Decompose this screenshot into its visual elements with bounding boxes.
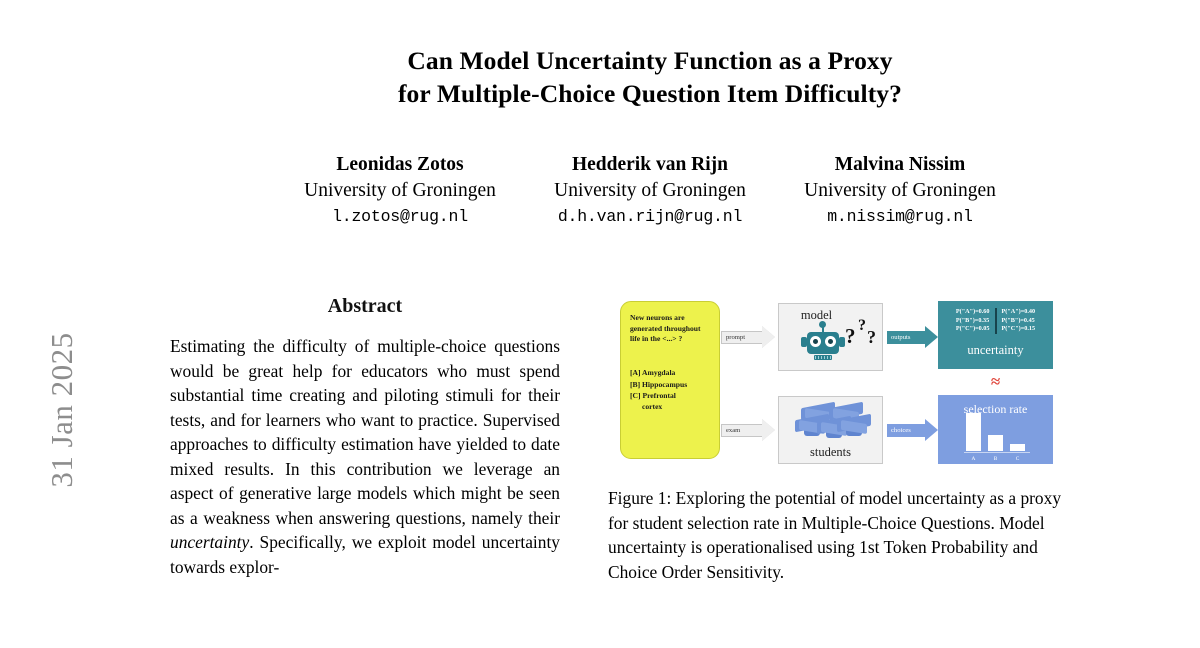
bar-column-a — [966, 413, 981, 451]
question-option-b: [B] Hippocampus — [630, 379, 712, 391]
question-option-c-line1: [C] Prefrontal — [630, 391, 676, 400]
robot-pupil-left — [813, 339, 818, 344]
students-panel: students — [778, 396, 883, 464]
arrow-outputs-head-icon — [925, 326, 938, 348]
model-panel-label: model — [765, 308, 868, 323]
uncertainty-prob-2-a: P("A")=0.40 — [1002, 308, 1036, 317]
model-panel: model — [778, 303, 883, 371]
arxiv-date-stamp: 31 Jan 2025 — [0, 0, 100, 648]
chart-tick-labels: A B C — [966, 456, 1028, 462]
chart-tick-c: C — [1010, 456, 1025, 462]
author-email-2[interactable]: d.h.van.rijn@rug.nl — [525, 204, 775, 230]
abstract-body: Estimating the difficulty of multiple-ch… — [170, 334, 560, 579]
author-affiliation-2: University of Groningen — [525, 177, 775, 204]
question-option-c: [C] Prefrontalcortex — [630, 391, 712, 412]
question-stem: New neurons are generated throughout lif… — [630, 313, 712, 345]
bar-a — [966, 413, 981, 451]
right-column: New neurons are generated throughout lif… — [608, 294, 1063, 584]
figure-1: New neurons are generated throughout lif… — [608, 296, 1063, 584]
bar-column-b — [988, 435, 1003, 451]
robot-antenna — [822, 324, 824, 332]
arrow-prompt-label: prompt — [726, 334, 745, 341]
uncertainty-card: P("A")=0.60 P("B")=0.35 P("C")=0.05 P("A… — [938, 301, 1053, 369]
arrow-exam: exam — [721, 419, 775, 441]
uncertainty-probabilities: P("A")=0.60 P("B")=0.35 P("C")=0.05 P("A… — [938, 308, 1053, 334]
chart-tick-a: A — [966, 456, 981, 462]
question-mark-icon-3: ? — [867, 328, 876, 346]
question-option-a: [A] Amygdala — [630, 367, 712, 379]
arrow-choices-body: choices — [887, 424, 925, 437]
title-line-2: for Multiple-Choice Question Item Diffic… — [100, 77, 1200, 110]
arrow-exam-body: exam — [721, 424, 762, 437]
uncertainty-prob-2-c: P("C")=0.15 — [1002, 325, 1036, 334]
students-panel-label: students — [779, 445, 882, 460]
arrow-choices-head-icon — [925, 419, 938, 441]
abstract-part-1: Estimating the difficulty of multiple-ch… — [170, 336, 560, 528]
arxiv-date-text: 31 Jan 2025 — [44, 290, 80, 530]
bar-b — [988, 435, 1003, 451]
author-name-1: Leonidas Zotos — [275, 152, 525, 177]
author-block: Leonidas Zotos University of Groningen l… — [100, 152, 1200, 230]
arrow-choices-label: choices — [891, 427, 911, 434]
mcq-question-card: New neurons are generated throughout lif… — [620, 301, 720, 459]
question-option-c-line2: cortex — [630, 402, 712, 413]
figure-diagram: New neurons are generated throughout lif… — [608, 296, 1063, 468]
robot-icon — [801, 324, 845, 366]
approximately-equal-icon: ≈ — [938, 370, 1053, 394]
arrow-outputs-label: outputs — [891, 334, 910, 341]
selection-rate-chart — [966, 413, 1028, 451]
page-title: Can Model Uncertainty Function as a Prox… — [100, 0, 1200, 110]
title-line-1: Can Model Uncertainty Function as a Prox… — [100, 44, 1200, 77]
left-column: Abstract Estimating the difficulty of mu… — [170, 294, 560, 584]
arrow-outputs: outputs — [887, 326, 938, 348]
chart-tick-b: B — [988, 456, 1003, 462]
robot-mouth-grid — [815, 356, 831, 359]
author-affiliation-3: University of Groningen — [775, 177, 1025, 204]
uncertainty-prob-1-c: P("C")=0.05 — [956, 325, 990, 334]
author-name-3: Malvina Nissim — [775, 152, 1025, 177]
author-email-3[interactable]: m.nissim@rug.nl — [775, 204, 1025, 230]
selection-rate-card: selection rate — [938, 395, 1053, 464]
arrow-outputs-body: outputs — [887, 331, 925, 344]
arrow-prompt: prompt — [721, 326, 775, 348]
arrow-prompt-body: prompt — [721, 331, 762, 344]
figure-caption: Figure 1: Exploring the potential of mod… — [608, 486, 1063, 584]
arrow-choices: choices — [887, 419, 938, 441]
arrow-exam-label: exam — [726, 427, 740, 434]
author-entry-2: Hedderik van Rijn University of Groninge… — [525, 152, 775, 230]
robot-pupil-right — [828, 339, 833, 344]
author-name-2: Hedderik van Rijn — [525, 152, 775, 177]
uncertainty-card-title: uncertainty — [938, 343, 1053, 358]
question-options: [A] Amygdala [B] Hippocampus [C] Prefron… — [630, 367, 712, 413]
bar-column-c — [1010, 444, 1025, 451]
author-entry-1: Leonidas Zotos University of Groningen l… — [275, 152, 525, 230]
arrow-prompt-head-icon — [762, 326, 775, 348]
graduation-cap-icon-5 — [837, 417, 871, 437]
uncertainty-prob-1-b: P("B")=0.35 — [956, 317, 990, 326]
abstract-italic-term: uncertainty — [170, 532, 249, 552]
uncertainty-prob-2-b: P("B")=0.45 — [1002, 317, 1036, 326]
author-affiliation-1: University of Groningen — [275, 177, 525, 204]
abstract-heading: Abstract — [170, 294, 560, 318]
arrow-exam-head-icon — [762, 419, 775, 441]
author-email-1[interactable]: l.zotos@rug.nl — [275, 204, 525, 230]
uncertainty-prob-column-2: P("A")=0.40 P("B")=0.45 P("C")=0.15 — [997, 308, 1041, 334]
chart-axis-line — [964, 452, 1030, 453]
uncertainty-prob-1-a: P("A")=0.60 — [956, 308, 990, 317]
question-mark-icon-2: ? — [858, 318, 866, 334]
question-mark-icon-1: ? — [845, 326, 856, 347]
uncertainty-prob-column-1: P("A")=0.60 P("B")=0.35 P("C")=0.05 — [951, 308, 997, 334]
graduation-caps-icon — [795, 403, 869, 447]
author-entry-3: Malvina Nissim University of Groningen m… — [775, 152, 1025, 230]
paper-page: Can Model Uncertainty Function as a Prox… — [100, 0, 1200, 648]
content-columns: Abstract Estimating the difficulty of mu… — [100, 294, 1200, 584]
bar-c — [1010, 444, 1025, 451]
